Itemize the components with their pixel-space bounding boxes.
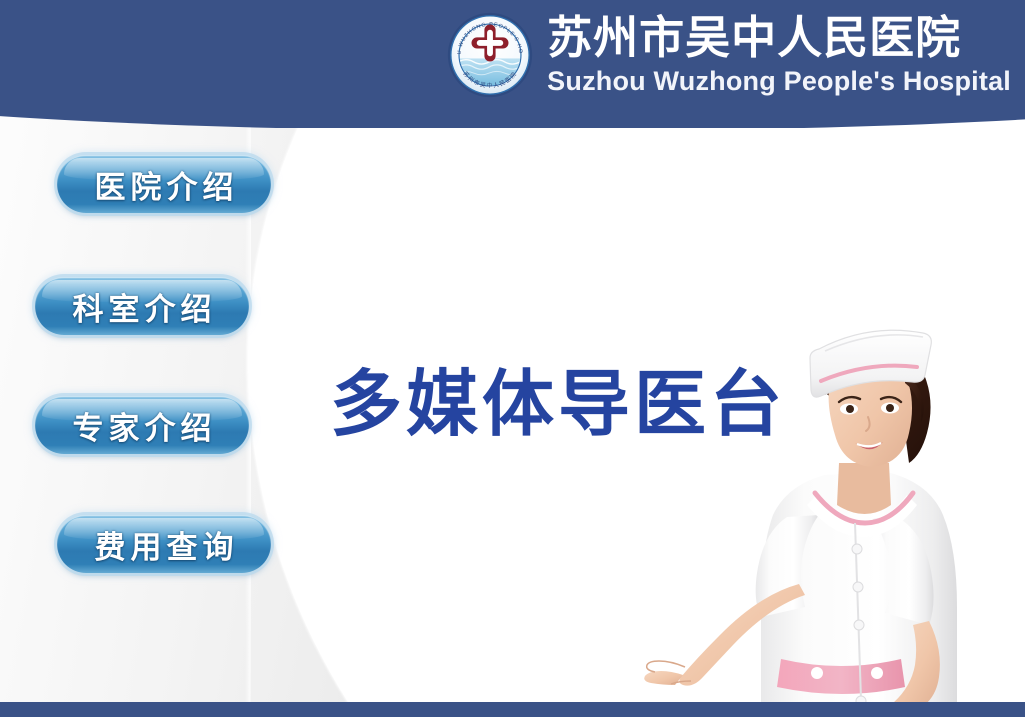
- header-content: SUZHOU WUZHONG PEOPLE'S HOSPITAL 苏州市吴中人民…: [447, 0, 1011, 110]
- nav-menu: 医院介绍 科室介绍 专家介绍 费用查询: [0, 0, 330, 717]
- hospital-seal-icon: SUZHOU WUZHONG PEOPLE'S HOSPITAL 苏州市吴中人民…: [447, 12, 533, 98]
- hospital-name-en: Suzhou Wuzhong People's Hospital: [547, 65, 1011, 97]
- nav-button-department-intro[interactable]: 科室介绍: [35, 277, 249, 335]
- footer-bar: [0, 702, 1025, 717]
- nav-button-label: 科室介绍: [68, 284, 217, 329]
- hospital-name-cn: 苏州市吴中人民医院: [547, 13, 1011, 63]
- nav-button-hospital-intro[interactable]: 医院介绍: [57, 155, 271, 213]
- nav-button-label: 专家介绍: [68, 403, 217, 448]
- kiosk-screen: SUZHOU WUZHONG PEOPLE'S HOSPITAL 苏州市吴中人民…: [0, 0, 1025, 717]
- nav-button-expert-intro[interactable]: 专家介绍: [35, 396, 249, 454]
- hospital-name-block: 苏州市吴中人民医院 Suzhou Wuzhong People's Hospit…: [547, 13, 1011, 97]
- nurse-presenting-icon: [605, 277, 1025, 702]
- nav-button-fee-inquiry[interactable]: 费用查询: [57, 515, 271, 573]
- nav-button-label: 费用查询: [90, 522, 239, 567]
- nav-button-label: 医院介绍: [90, 162, 239, 207]
